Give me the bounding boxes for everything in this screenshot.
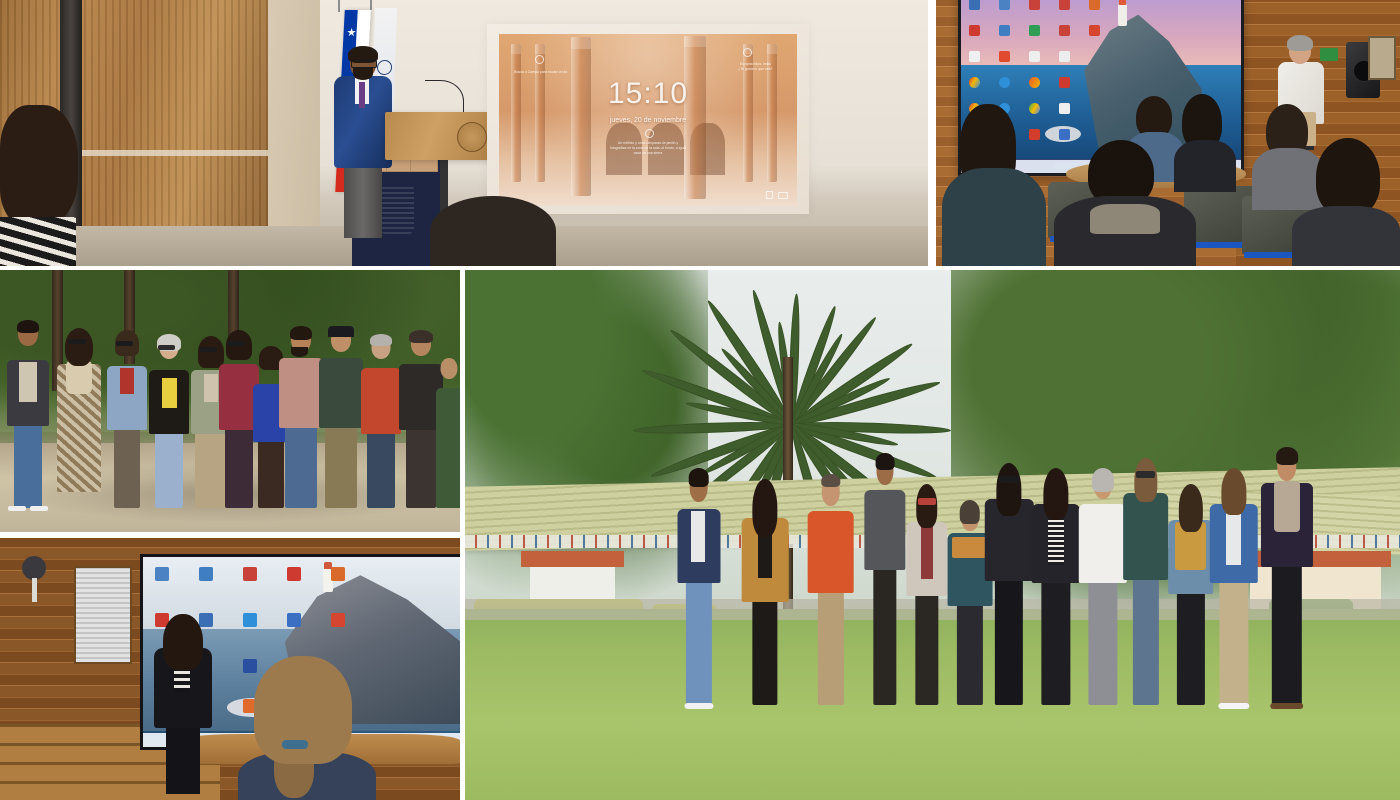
person-beard — [291, 347, 308, 357]
person-hair — [688, 468, 709, 487]
person-hair — [1221, 468, 1246, 515]
photo-classroom-audience — [936, 0, 1400, 266]
desktop-icon[interactable] — [243, 613, 257, 627]
person-jeans — [1133, 571, 1159, 705]
person-trousers — [325, 426, 357, 508]
person-shirt — [1226, 509, 1240, 565]
person-body — [436, 388, 460, 508]
person-shoe — [1270, 703, 1304, 709]
group-person — [675, 471, 722, 704]
person-puffer-coat — [1123, 493, 1169, 581]
person-hair — [752, 479, 777, 537]
sunglasses-icon — [999, 476, 1019, 483]
podium-emblem — [457, 122, 487, 152]
group-person — [436, 358, 460, 508]
desktop-icon-edge[interactable] — [999, 77, 1010, 88]
group-person — [148, 336, 190, 508]
person-hair — [1043, 468, 1068, 519]
speaker-tie — [359, 82, 365, 108]
hair-tie — [282, 740, 308, 749]
speaker-beard — [353, 68, 373, 80]
desktop-icon[interactable] — [1029, 129, 1040, 140]
desktop-icon[interactable] — [1059, 77, 1070, 88]
desktop-icon[interactable] — [1089, 25, 1100, 36]
desktop-icon[interactable] — [1059, 51, 1070, 62]
desktop-icon[interactable] — [1029, 25, 1040, 36]
person-jacket — [361, 368, 401, 434]
person-hair — [1178, 484, 1202, 532]
person-jacket — [807, 511, 854, 593]
audience-shoulders — [942, 168, 1046, 266]
column-capital — [684, 36, 706, 47]
person-jeans — [285, 426, 317, 508]
speaker-legs — [344, 166, 382, 238]
person-trousers — [225, 428, 253, 508]
sunglasses-icon — [116, 341, 133, 346]
person-hoodie — [279, 358, 323, 428]
desktop-icon-chrome[interactable] — [969, 77, 980, 88]
desktop-icon[interactable] — [155, 567, 169, 581]
person-scarf — [1274, 481, 1300, 532]
desktop-icon[interactable] — [1029, 51, 1040, 62]
column-capital — [511, 44, 521, 54]
battery-icon[interactable] — [778, 192, 788, 199]
person-hair — [409, 330, 433, 343]
scarf — [1090, 204, 1160, 234]
person-hair — [821, 474, 840, 488]
column-capital — [535, 44, 546, 54]
person-scarf — [921, 526, 934, 578]
person-hair — [997, 463, 1022, 515]
desktop-icon[interactable] — [1029, 0, 1040, 10]
person-shirt — [691, 511, 705, 562]
person-hair — [290, 326, 312, 340]
presenter — [152, 618, 214, 793]
wall-lamp — [22, 556, 46, 580]
person-hair — [875, 453, 894, 470]
sunglasses-icon — [158, 345, 175, 350]
panel-podium-speech: ★ — [0, 0, 928, 266]
person-hair — [1092, 468, 1114, 491]
person-shoe — [8, 506, 26, 511]
person-shirt — [1078, 504, 1126, 583]
group-person — [862, 456, 907, 705]
person-trousers — [1176, 587, 1204, 704]
person-shoe — [1218, 703, 1249, 709]
person-legs — [873, 565, 896, 704]
window-blinds — [74, 566, 132, 664]
desktop-icon[interactable] — [199, 567, 213, 581]
person-head — [441, 358, 458, 379]
group-person — [106, 332, 148, 508]
panel-group-araucaria — [465, 270, 1400, 800]
flagpole-left — [338, 0, 340, 12]
photo-group-araucaria — [465, 270, 1400, 800]
group-person — [318, 328, 364, 508]
audience-head — [1316, 138, 1380, 216]
person-jacket — [319, 358, 363, 428]
flag-star-icon: ★ — [346, 28, 356, 39]
seated-attendee — [238, 656, 376, 800]
person-jeans — [367, 430, 395, 508]
group-person — [360, 336, 402, 508]
lighthouse-icon — [1118, 4, 1127, 26]
presenter-hair — [1287, 35, 1313, 51]
audience-shoulders — [1252, 148, 1324, 210]
speaker-glasses-icon — [351, 60, 377, 68]
lock-hint-right: Encanta fotos, India ¿Te gusta lo que ve… — [720, 62, 792, 73]
desktop-icon[interactable] — [1059, 25, 1070, 36]
presenter-legs — [166, 726, 200, 794]
flagpole-right — [370, 0, 372, 10]
lock-screen-clock: 15:10 — [499, 79, 797, 109]
group-person — [56, 330, 102, 508]
photo-classroom-presenter — [0, 538, 460, 800]
search-icon-center[interactable] — [645, 129, 654, 138]
desktop-icon[interactable] — [1089, 0, 1100, 10]
person-hair — [1134, 458, 1157, 502]
group-person — [1077, 471, 1127, 704]
person-hair — [916, 484, 938, 527]
person-shirt — [204, 374, 218, 402]
audience-dress — [0, 217, 76, 266]
person-shoe — [30, 506, 48, 511]
person-legs — [752, 589, 777, 705]
column — [535, 44, 546, 182]
group-person — [806, 477, 855, 705]
person-hair — [960, 500, 981, 524]
person-hair — [17, 320, 39, 333]
sunglasses-icon — [200, 347, 217, 352]
building-roof — [521, 551, 624, 567]
person-trousers — [1088, 576, 1117, 704]
person-legs — [957, 600, 983, 705]
photo-podium-speech: ★ — [0, 0, 928, 266]
sunglasses-icon — [228, 341, 245, 346]
person-legs — [915, 587, 938, 704]
desktop-icon[interactable] — [1059, 129, 1070, 140]
desktop-icon[interactable] — [331, 613, 345, 627]
desktop-icon[interactable] — [331, 567, 345, 581]
presenter-hair — [163, 614, 203, 670]
sunglasses-icon — [918, 498, 936, 505]
desktop-icon[interactable] — [1059, 103, 1070, 114]
person-legs — [1041, 576, 1070, 704]
audience-shoulders — [1174, 140, 1236, 192]
desktop-icon[interactable] — [1029, 103, 1040, 114]
desktop-icon[interactable] — [999, 25, 1010, 36]
person-trousers — [817, 582, 843, 705]
person-jeans — [686, 574, 712, 705]
person-shoe — [684, 703, 713, 709]
person-sweater — [864, 490, 905, 570]
column-capital — [571, 37, 592, 48]
person-shirt — [19, 362, 37, 402]
group-person — [1208, 471, 1258, 704]
panel-outdoor-group-park — [0, 270, 460, 532]
desktop-icon[interactable] — [999, 51, 1010, 62]
glasses-icon — [1136, 471, 1155, 478]
lock-screen-wallpaper: Busca o Campo para mudar la vía Encanta … — [499, 34, 797, 206]
search-icon[interactable] — [535, 55, 544, 64]
desktop-icon-folder[interactable] — [969, 51, 980, 62]
group-person — [904, 487, 949, 704]
group-person — [984, 466, 1034, 705]
network-icon[interactable] — [766, 191, 773, 199]
person-legs — [14, 422, 42, 508]
desktop-icon[interactable] — [969, 0, 980, 10]
person-hair — [65, 328, 93, 366]
column — [511, 44, 521, 182]
audience-head-foreground — [430, 196, 556, 266]
group-person — [1031, 471, 1081, 704]
desktop-icon-firefox[interactable] — [1029, 77, 1040, 88]
desktop-icon[interactable] — [999, 0, 1010, 10]
person-hair — [370, 334, 392, 346]
panel-classroom-audience — [936, 0, 1400, 266]
photo-collage: ★ — [0, 0, 1400, 800]
desktop-icon[interactable] — [287, 613, 301, 627]
column-capital — [767, 44, 777, 54]
group-person — [1121, 461, 1170, 705]
person-trousers — [406, 428, 436, 508]
person-sweater — [162, 378, 177, 408]
panel-classroom-presenter — [0, 538, 460, 800]
photo-outdoor-group-park — [0, 270, 460, 532]
person-legs — [1272, 562, 1302, 704]
person-shirt — [120, 368, 134, 394]
person-yoke-pattern — [952, 537, 988, 557]
group-person — [6, 322, 50, 508]
person-trousers — [1219, 576, 1248, 704]
projection-screen: Busca o Campo para mudar la vía Encanta … — [487, 24, 809, 214]
person-legs — [114, 428, 140, 508]
person-cap — [328, 326, 354, 337]
person-jeans — [155, 430, 183, 508]
desktop-icon-adobe[interactable] — [969, 25, 980, 36]
lock-hint-center: Un edificio y unas lámparas de jardín y … — [609, 141, 686, 157]
group-person — [1260, 450, 1314, 704]
audience-hair — [0, 105, 78, 225]
person-hair — [1276, 447, 1298, 465]
desktop-icon[interactable] — [287, 567, 301, 581]
lock-screen-date: jueves, 20 de noviembre — [499, 117, 797, 124]
audience-shoulders — [1292, 206, 1400, 266]
person-legs — [995, 571, 1023, 705]
lock-hint-left: Busca o Campo para mudar la vía — [508, 70, 574, 75]
framed-picture — [1368, 36, 1396, 80]
desktop-icon[interactable] — [243, 567, 257, 581]
desktop-icon[interactable] — [1059, 0, 1070, 10]
group-person — [741, 482, 790, 705]
audience-woman-foreground — [0, 105, 92, 266]
sunglasses-icon — [68, 339, 86, 344]
